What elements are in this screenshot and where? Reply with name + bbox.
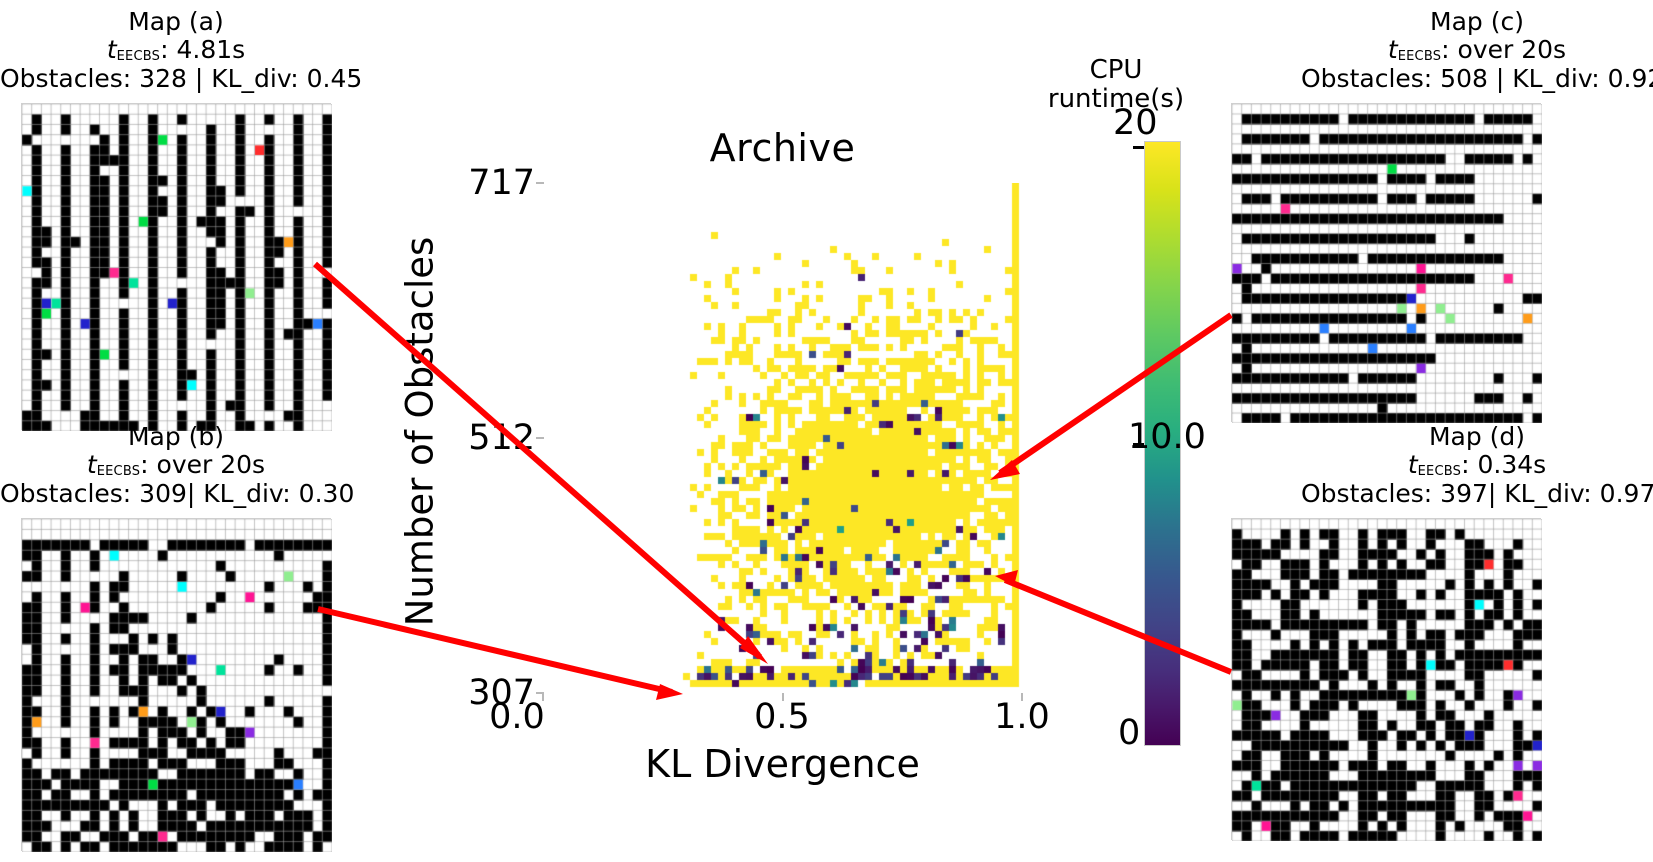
figure-root: Map (a) tEECBS: 4.81s Obstacles: 328 | K… bbox=[0, 0, 1653, 862]
map-a-runtime-line: tEECBS: 4.81s bbox=[0, 36, 352, 65]
map-c-grid-canvas bbox=[1232, 104, 1542, 423]
map-b-grid-canvas bbox=[22, 519, 332, 852]
colorbar-tick-max: 20 bbox=[1113, 103, 1158, 143]
arrow-map-d bbox=[995, 570, 1231, 672]
map-b-title: Map (b) bbox=[0, 423, 352, 451]
map-d-runtime-value: : 0.34s bbox=[1461, 450, 1546, 479]
map-panel-c: Map (c) tEECBS: over 20s Obstacles: 508 … bbox=[1301, 8, 1653, 93]
colorbar-tick-dash-max bbox=[1133, 146, 1144, 149]
y-tickmark-512 bbox=[536, 437, 544, 439]
map-panel-d: Map (d) tEECBS: 0.34s Obstacles: 397| KL… bbox=[1301, 423, 1653, 508]
map-d-runtime-line: tEECBS: 0.34s bbox=[1301, 451, 1653, 480]
map-panel-b: Map (b) tEECBS: over 20s Obstacles: 309|… bbox=[0, 423, 352, 508]
map-b-obstacles-line: Obstacles: 309| KL_div: 0.30 bbox=[0, 480, 352, 508]
x-tick-10: 1.0 bbox=[972, 697, 1072, 737]
y-tick-717: 717 bbox=[435, 163, 535, 203]
map-a-runtime-value: : 4.81s bbox=[160, 35, 245, 64]
t-subscript: EECBS bbox=[1398, 49, 1441, 64]
map-c-title: Map (c) bbox=[1301, 8, 1653, 36]
map-d-title: Map (d) bbox=[1301, 423, 1653, 451]
map-b-runtime-value: : over 20s bbox=[140, 450, 265, 479]
x-axis-label: KL Divergence bbox=[543, 742, 1022, 786]
colorbar-title-line1: CPU bbox=[1036, 56, 1196, 85]
x-tickmark-10 bbox=[1021, 693, 1023, 701]
map-a-title: Map (a) bbox=[0, 8, 352, 36]
page-title: Archive bbox=[543, 126, 1022, 170]
map-a-caption: Map (a) tEECBS: 4.81s Obstacles: 328 | K… bbox=[0, 8, 352, 93]
map-c-runtime-value: : over 20s bbox=[1441, 35, 1566, 64]
map-b-grid bbox=[21, 518, 331, 851]
map-c-obstacles-line: Obstacles: 508 | KL_div: 0.92 bbox=[1301, 65, 1653, 93]
colorbar-tick-mid: 10.0 bbox=[1128, 417, 1206, 457]
x-tickmark-05 bbox=[782, 693, 784, 701]
map-d-obstacles-line: Obstacles: 397| KL_div: 0.97 bbox=[1301, 480, 1653, 508]
archive-heatmap-canvas[interactable] bbox=[543, 183, 1022, 693]
archive-heatmap[interactable] bbox=[543, 183, 1022, 693]
map-b-caption: Map (b) tEECBS: over 20s Obstacles: 309|… bbox=[0, 423, 352, 508]
map-d-grid-canvas bbox=[1232, 519, 1542, 841]
map-a-grid-canvas bbox=[22, 104, 332, 431]
map-d-grid bbox=[1231, 518, 1541, 840]
t-subscript: EECBS bbox=[117, 49, 160, 64]
x-tick-0: 0.0 bbox=[467, 697, 567, 737]
map-a-obstacles-line: Obstacles: 328 | KL_div: 0.45 bbox=[0, 65, 352, 93]
colorbar-tick-min: 0 bbox=[1118, 713, 1140, 753]
map-c-caption: Map (c) tEECBS: over 20s Obstacles: 508 … bbox=[1301, 8, 1653, 93]
map-c-grid bbox=[1231, 103, 1541, 422]
map-a-grid bbox=[21, 103, 331, 430]
y-tickmark-717 bbox=[536, 182, 544, 184]
x-tick-05: 0.5 bbox=[732, 697, 832, 737]
map-d-caption: Map (d) tEECBS: 0.34s Obstacles: 397| KL… bbox=[1301, 423, 1653, 508]
t-symbol: t bbox=[107, 35, 117, 64]
t-subscript: EECBS bbox=[1418, 464, 1461, 479]
map-panel-a: Map (a) tEECBS: 4.81s Obstacles: 328 | K… bbox=[0, 8, 352, 93]
t-symbol: t bbox=[1388, 35, 1398, 64]
t-subscript: EECBS bbox=[97, 464, 140, 479]
map-b-runtime-line: tEECBS: over 20s bbox=[0, 451, 352, 480]
t-symbol: t bbox=[87, 450, 97, 479]
x-tickmark-0 bbox=[542, 693, 544, 701]
t-symbol: t bbox=[1408, 450, 1418, 479]
map-c-runtime-line: tEECBS: over 20s bbox=[1301, 36, 1653, 65]
y-tick-512: 512 bbox=[435, 418, 535, 458]
